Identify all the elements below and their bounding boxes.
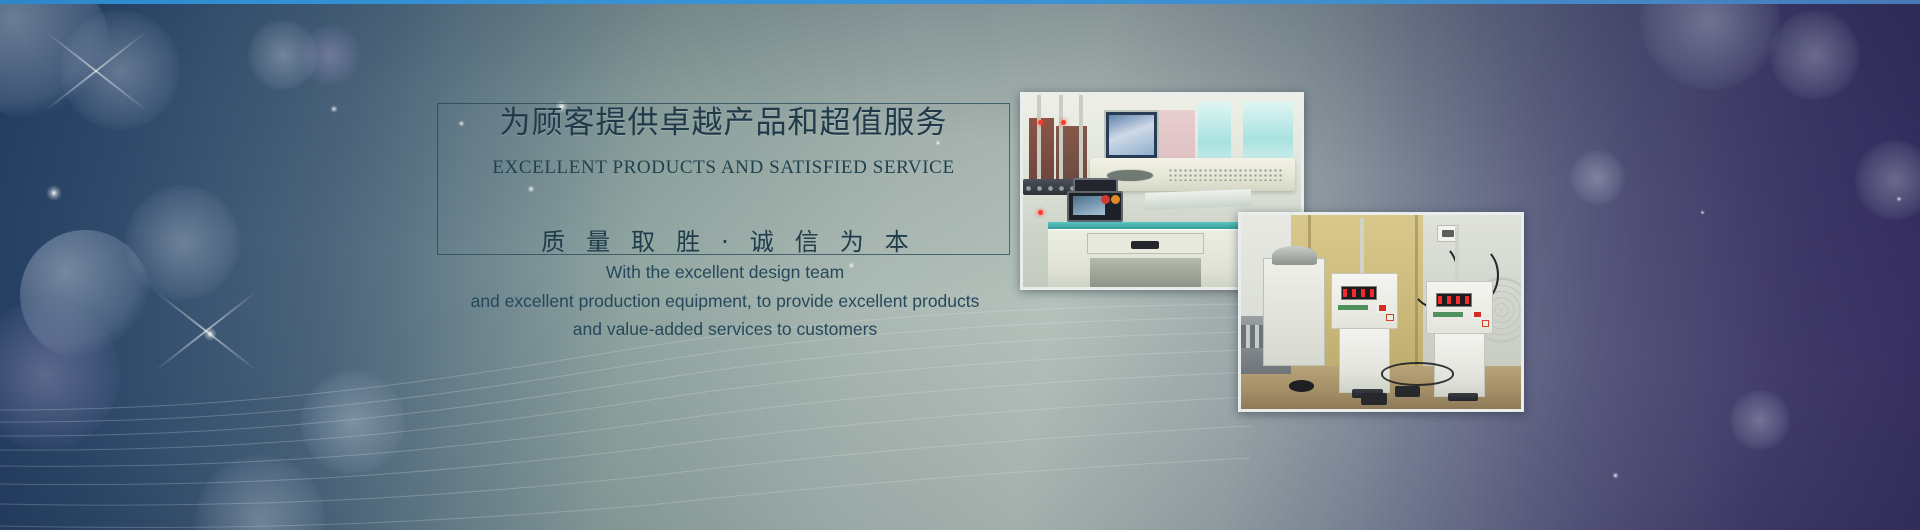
press-machines-image: [1241, 215, 1521, 409]
headline-english: EXCELLENT PRODUCTS AND SATISFIED SERVICE: [437, 157, 1010, 179]
description-line-3: and value-added services to customers: [330, 315, 1120, 344]
headline-chinese: 为顾客提供卓越产品和超值服务: [437, 108, 1010, 139]
press-machines-photo: [1238, 212, 1524, 412]
slogan-chinese: 质量取胜·诚信为本: [420, 222, 1030, 257]
promo-banner: 为顾客提供卓越产品和超值服务 EXCELLENT PRODUCTS AND SA…: [0, 0, 1920, 530]
description-line-1: With the excellent design team: [330, 258, 1120, 287]
description-line-2: and excellent production equipment, to p…: [330, 287, 1120, 316]
description-paragraph: With the excellent design team and excel…: [330, 258, 1120, 344]
top-accent-bar: [0, 0, 1920, 4]
